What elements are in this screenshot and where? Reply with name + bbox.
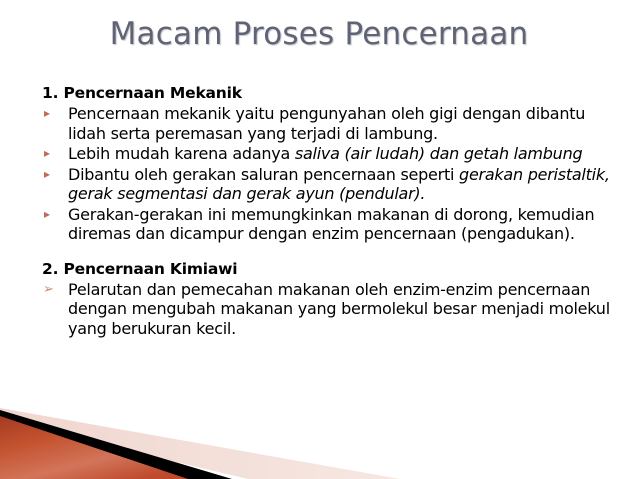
section-spacer [42, 245, 614, 260]
list-item: ▸Dibantu oleh gerakan saluran pencernaan… [42, 165, 614, 204]
triangle-right-icon: ▸ [44, 144, 62, 164]
bullet-list-2: ➢Pelarutan dan pemecahan makanan oleh en… [42, 280, 614, 339]
page-title: Macam Proses Pencernaan [0, 16, 638, 52]
triangle-right-icon: ▸ [44, 205, 62, 225]
section-heading-1: 1. Pencernaan Mekanik [42, 84, 614, 103]
bottom-left-ribbon-decoration [0, 400, 400, 479]
triangle-right-icon: ▸ [44, 104, 62, 124]
bullet-list-1: ▸Pencernaan mekanik yaitu pengunyahan ol… [42, 104, 614, 244]
ribbon-black-sliver [0, 410, 232, 479]
bullet-text: Pencernaan mekanik yaitu pengunyahan ole… [68, 104, 585, 143]
list-item: ➢Pelarutan dan pemecahan makanan oleh en… [42, 280, 614, 339]
ribbon-pink-band [0, 408, 400, 479]
triangle-right-icon: ▸ [44, 165, 62, 185]
arrowhead-right-icon: ➢ [43, 280, 61, 300]
bullet-text: Dibantu oleh gerakan saluran pencernaan … [68, 165, 459, 184]
list-item: ▸Lebih mudah karena adanya saliva (air l… [42, 144, 614, 164]
bullet-text: Lebih mudah karena adanya [68, 144, 295, 163]
list-item: ▸Gerakan-gerakan ini memungkinkan makana… [42, 205, 614, 244]
list-item: ▸Pencernaan mekanik yaitu pengunyahan ol… [42, 104, 614, 143]
ribbon-orange-triangle [0, 416, 188, 479]
slide-body: 1. Pencernaan Mekanik▸Pencernaan mekanik… [42, 84, 614, 339]
section-heading-2: 2. Pencernaan Kimiawi [42, 260, 614, 279]
slide-canvas: Macam Proses Pencernaan 1. Pencernaan Me… [0, 0, 638, 479]
bullet-text: Pelarutan dan pemecahan makanan oleh enz… [68, 280, 610, 338]
bullet-text-italic: saliva (air ludah) dan getah lambung [295, 144, 582, 163]
bullet-text: Gerakan-gerakan ini memungkinkan makanan… [68, 205, 594, 244]
